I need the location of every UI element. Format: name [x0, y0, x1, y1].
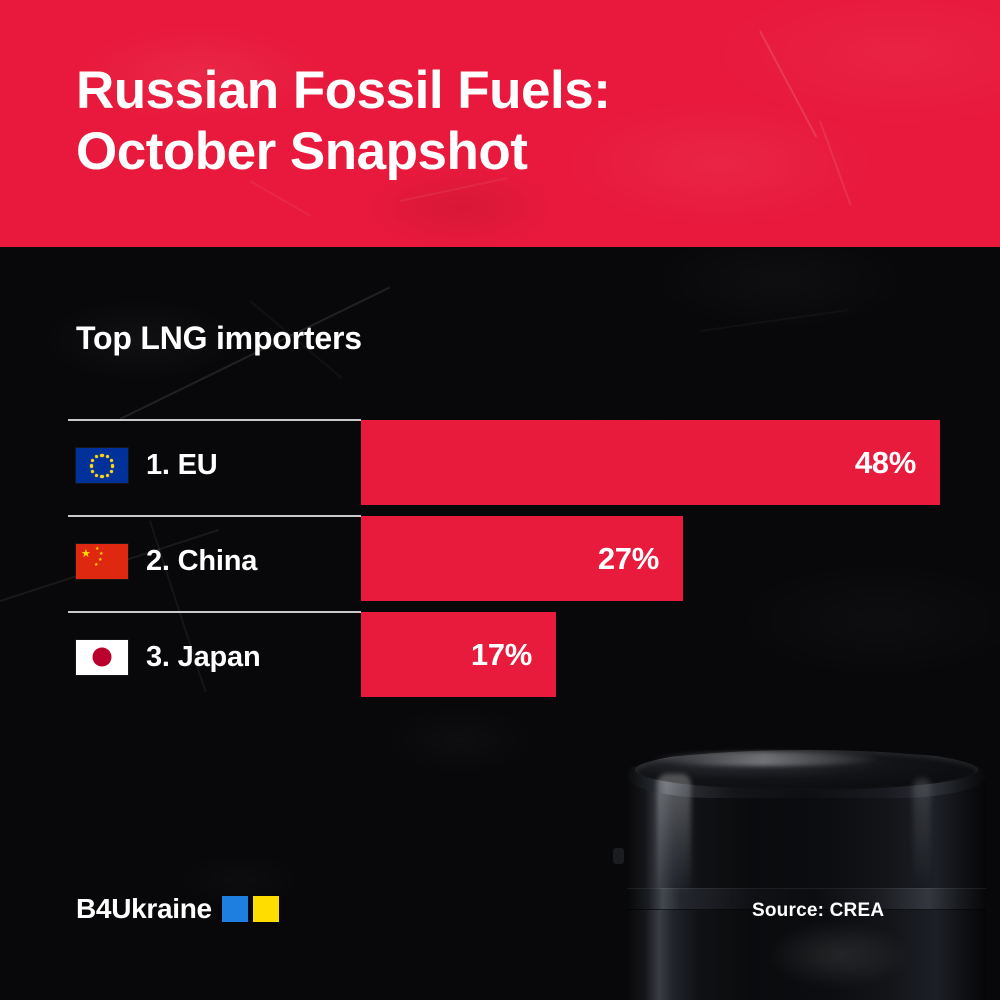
barrel-lower-highlight [763, 920, 913, 990]
page-title: Russian Fossil Fuels: October Snapshot [76, 60, 610, 183]
barrel-plug [613, 848, 624, 864]
barrel-top-highlight [649, 752, 879, 766]
bar-china: 27% [361, 516, 683, 601]
row-separator [68, 419, 361, 421]
barrel-side-highlight [657, 774, 691, 896]
bar-value-label: 27% [598, 541, 683, 577]
row-name: 1. EU [146, 449, 218, 482]
eu-stars [76, 448, 128, 483]
china-small-star: ★ [99, 552, 103, 556]
ukraine-flag-icon [222, 896, 279, 922]
china-small-star: ★ [98, 558, 102, 562]
scratch-mark [700, 309, 849, 332]
section-title: Top LNG importers [76, 320, 362, 357]
ukraine-flag-blue [222, 896, 248, 922]
oil-barrel-icon [613, 748, 1000, 1000]
brand-footer: B4Ukraine [76, 893, 279, 925]
china-flag-icon: ★ ★ ★ ★ ★ [76, 544, 128, 579]
brand-name: B4Ukraine [76, 893, 212, 925]
chart-row: ★ ★ ★ ★ ★ 2. China 27% [0, 515, 1000, 611]
bar-value-label: 17% [471, 637, 556, 673]
header-banner: Russian Fossil Fuels: October Snapshot [0, 0, 1000, 247]
chart-row: 1. EU 48% [0, 419, 1000, 515]
row-separator [68, 611, 361, 613]
barrel-side-highlight-right [913, 778, 931, 888]
bar-eu: 48% [361, 420, 940, 505]
china-small-star: ★ [94, 563, 98, 567]
source-credit: Source: CREA [752, 900, 884, 922]
row-label-group: 1. EU [76, 441, 218, 489]
infographic-canvas: Russian Fossil Fuels: October Snapshot T… [0, 0, 1000, 1000]
ukraine-flag-yellow [253, 896, 279, 922]
japan-sun-disc [93, 648, 112, 667]
eu-flag-icon [76, 448, 128, 483]
chart-row: 3. Japan 17% [0, 611, 1000, 707]
china-small-star: ★ [95, 547, 99, 551]
row-label-group: 3. Japan [76, 633, 260, 681]
row-name: 3. Japan [146, 641, 260, 674]
japan-flag-icon [76, 640, 128, 675]
china-big-star: ★ [81, 549, 91, 559]
bar-value-label: 48% [855, 445, 940, 481]
row-label-group: ★ ★ ★ ★ ★ 2. China [76, 537, 257, 585]
row-name: 2. China [146, 545, 257, 578]
row-separator [68, 515, 361, 517]
bar-japan: 17% [361, 612, 556, 697]
bar-chart: 1. EU 48% ★ ★ ★ ★ ★ 2. China 27% [0, 400, 1000, 710]
